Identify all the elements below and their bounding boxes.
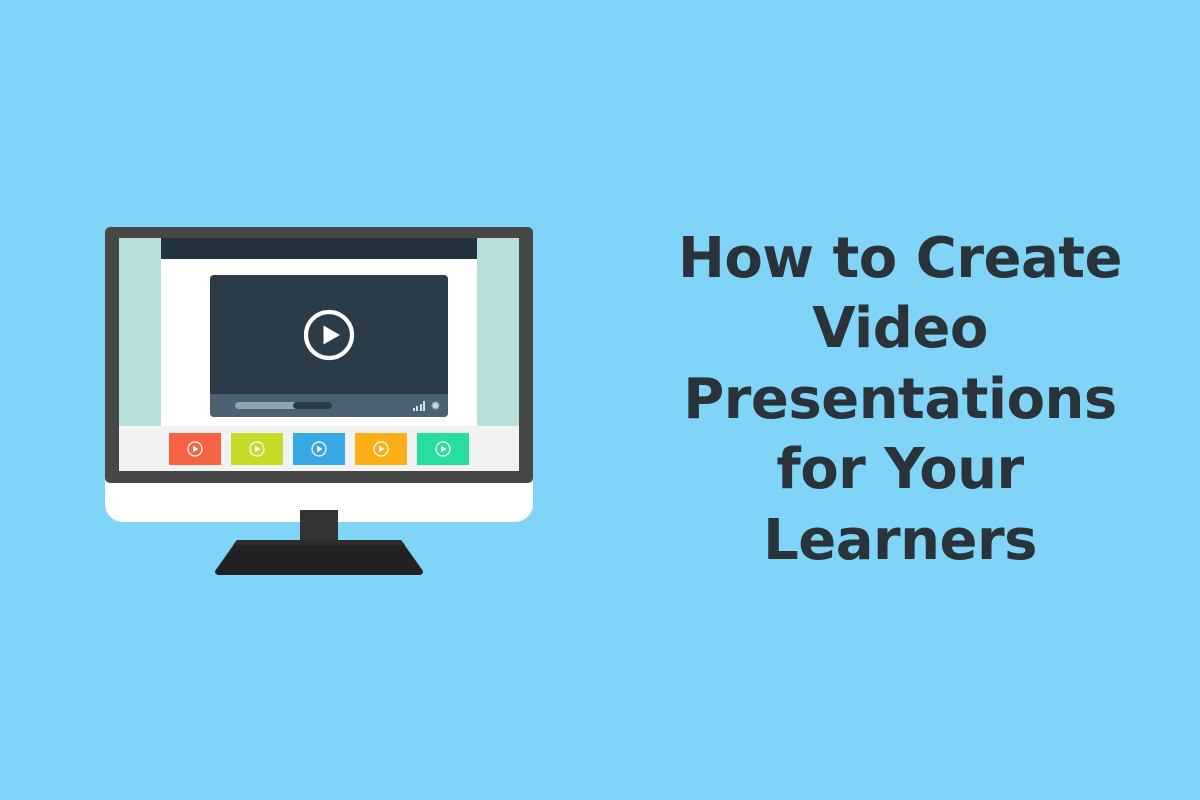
video-thumbnail-4[interactable]	[355, 433, 407, 465]
video-player-controls[interactable]	[210, 394, 448, 417]
poster-canvas: How to Create Video Presentations for Yo…	[0, 0, 1200, 800]
monitor-stand-base	[215, 540, 423, 575]
progress-bar-handle[interactable]	[293, 402, 332, 409]
app-header-bar	[119, 238, 519, 259]
video-player[interactable]	[210, 275, 448, 417]
video-thumbnail-3[interactable]	[293, 433, 345, 465]
video-thumbnail-strip	[119, 426, 519, 471]
page-title: How to Create Video Presentations for Yo…	[630, 224, 1170, 577]
video-thumbnail-2[interactable]	[231, 433, 283, 465]
player-control-group	[413, 400, 441, 411]
play-circle-icon	[187, 440, 204, 457]
progress-bar[interactable]	[235, 402, 332, 409]
gear-icon[interactable]	[430, 400, 441, 411]
play-circle-icon	[435, 440, 452, 457]
video-thumbnail-5[interactable]	[417, 433, 469, 465]
play-circle-icon	[373, 440, 390, 457]
video-player-stage	[210, 275, 448, 394]
monitor-screen	[119, 238, 519, 471]
monitor-illustration	[0, 0, 600, 800]
video-thumbnail-1[interactable]	[169, 433, 221, 465]
play-circle-icon	[249, 440, 266, 457]
play-circle-icon	[311, 440, 328, 457]
play-circle-icon[interactable]	[302, 308, 356, 362]
headline-block: How to Create Video Presentations for Yo…	[600, 0, 1200, 800]
signal-bars-icon[interactable]	[413, 401, 425, 411]
